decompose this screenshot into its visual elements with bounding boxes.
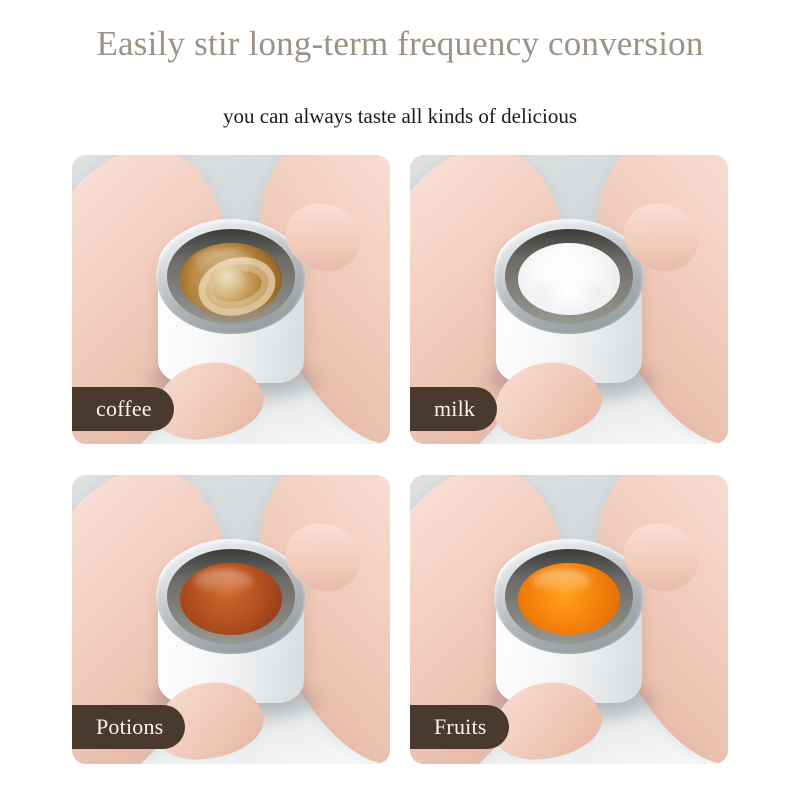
mug-inner-wall [167, 549, 296, 644]
badge-potions: Potions [72, 705, 185, 749]
mug-steel-rim [156, 219, 305, 335]
mug-steel-rim [494, 539, 643, 655]
mug-inner-wall [505, 229, 634, 324]
milk-foam [532, 279, 606, 309]
liquid-milk [518, 243, 621, 315]
liquid-gloss [532, 249, 590, 273]
page-header: Easily stir long-term frequency conversi… [0, 0, 800, 148]
mug-steel-rim [494, 219, 643, 335]
liquid-fruits [518, 563, 621, 635]
badge-label: coffee [96, 398, 152, 420]
badge-coffee: coffee [72, 387, 174, 431]
liquid-coffee [180, 243, 283, 315]
liquid-gloss [194, 569, 252, 593]
badge-label: milk [434, 398, 475, 420]
liquid-potions [180, 563, 283, 635]
mug-steel-rim [156, 539, 305, 655]
page-title: Easily stir long-term frequency conversi… [0, 22, 800, 66]
page-subtitle: you can always taste all kinds of delici… [0, 101, 800, 131]
badge-label: Potions [96, 716, 163, 738]
liquid-gloss [532, 569, 590, 593]
badge-milk: milk [410, 387, 497, 431]
mug-inner-wall [167, 229, 296, 324]
liquid-gloss [194, 249, 252, 273]
badge-label: Fruits [434, 716, 487, 738]
badge-fruits: Fruits [410, 705, 509, 749]
beverage-gallery: coffee milk Potions Fruits [72, 155, 728, 775]
mug-inner-wall [505, 549, 634, 644]
